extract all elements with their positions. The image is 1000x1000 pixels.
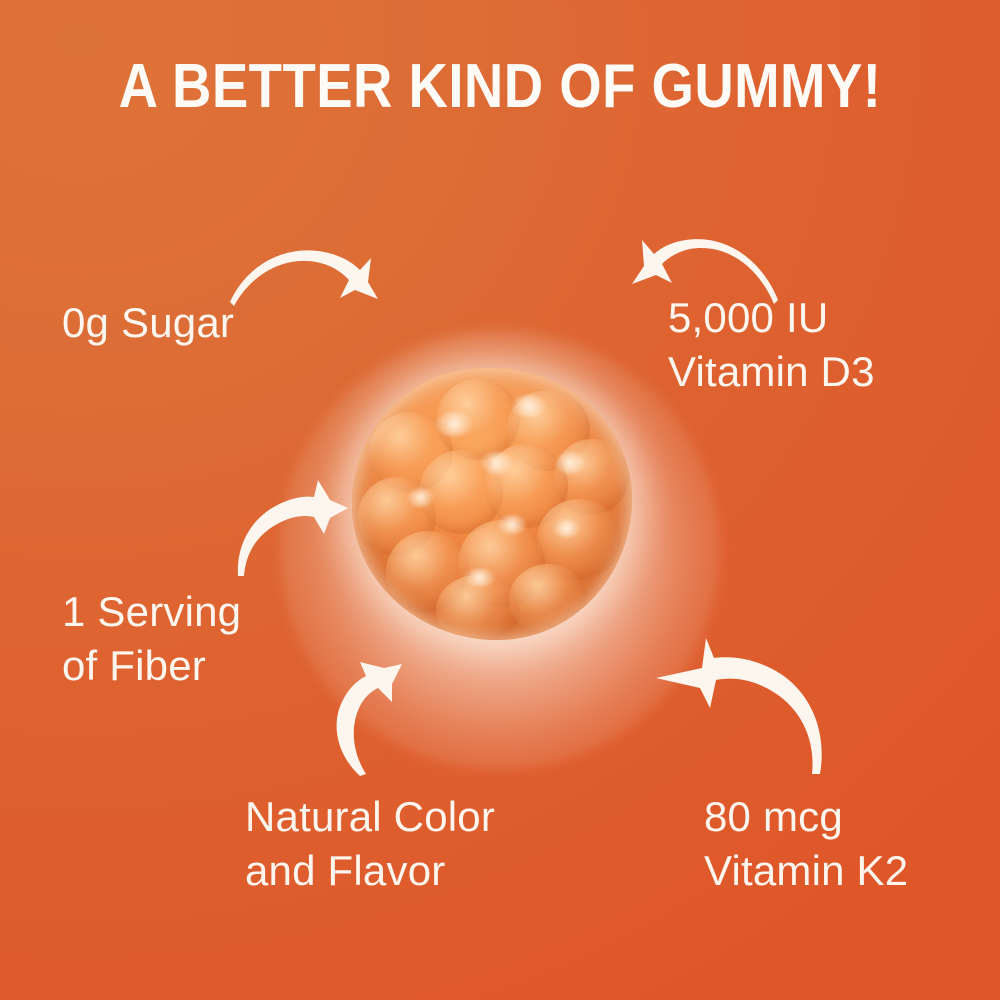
callout-label-vitamin-d3: 5,000 IU Vitamin D3 [668,291,875,399]
callout-label-sugar: 0g Sugar [62,296,234,350]
callout-label-fiber: 1 Serving of Fiber [62,585,241,693]
gummy-image [352,368,632,640]
callout-label-natural: Natural Color and Flavor [245,790,495,898]
curved-arrow-upleft-icon [652,636,832,776]
page-title: A BETTER KIND OF GUMMY! [60,56,940,118]
promo-graphic: A BETTER KIND OF GUMMY! [0,0,1000,1000]
gummy-body [352,368,632,640]
curved-arrow-upright-icon [232,476,352,576]
curved-arrow-right-icon [228,236,378,316]
curved-arrow-up-icon [322,658,412,778]
callout-label-vitamin-k2: 80 mcg Vitamin K2 [704,790,908,898]
